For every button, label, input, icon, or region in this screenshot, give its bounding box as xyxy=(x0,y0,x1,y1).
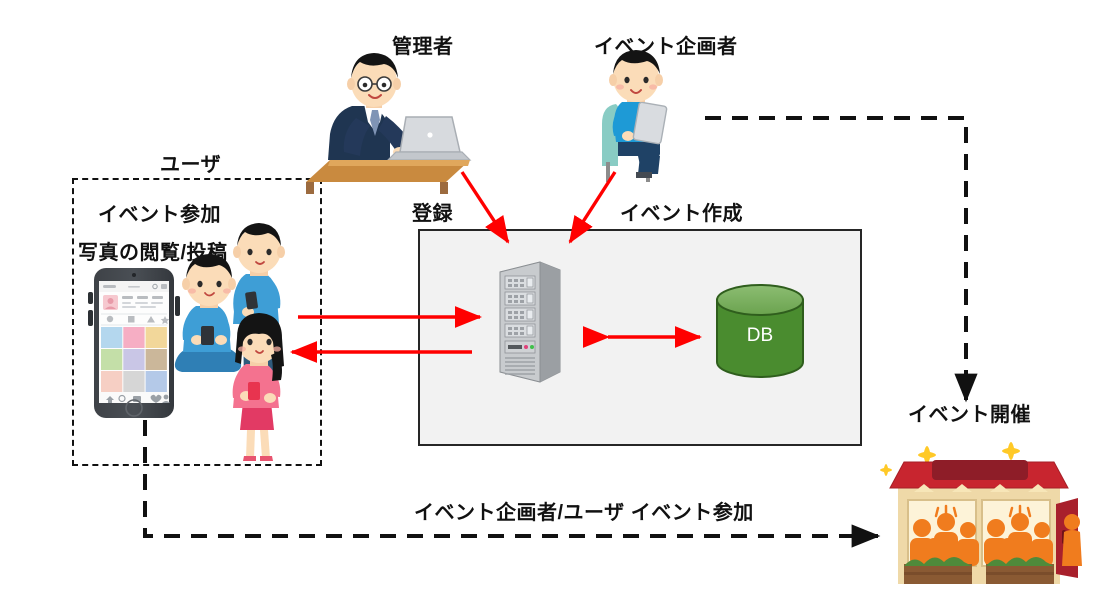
label-user: ユーザ xyxy=(160,148,221,177)
person-with-tablet-icon xyxy=(602,50,667,182)
label-create-event-flow: イベント作成 xyxy=(620,197,743,226)
label-event-planner: イベント企画者 xyxy=(594,30,738,59)
person-at-laptop-icon xyxy=(306,53,470,194)
label-register-flow: 登録 xyxy=(412,197,453,226)
label-event-held: イベント開催 xyxy=(908,398,1031,427)
label-admin: 管理者 xyxy=(392,30,454,59)
server-system-box xyxy=(418,229,862,446)
label-bottom-flow: イベント企画者/ユーザ イベント参加 xyxy=(414,496,754,525)
user-group-box xyxy=(72,178,322,466)
diagram-canvas: 管理者 イベント企画者 ユーザ イベント参加 写真の閲覧/投稿 登録 イベント作… xyxy=(0,0,1100,615)
event-venue-building-icon xyxy=(880,442,1082,584)
sparkle-star-icon xyxy=(880,442,1054,480)
